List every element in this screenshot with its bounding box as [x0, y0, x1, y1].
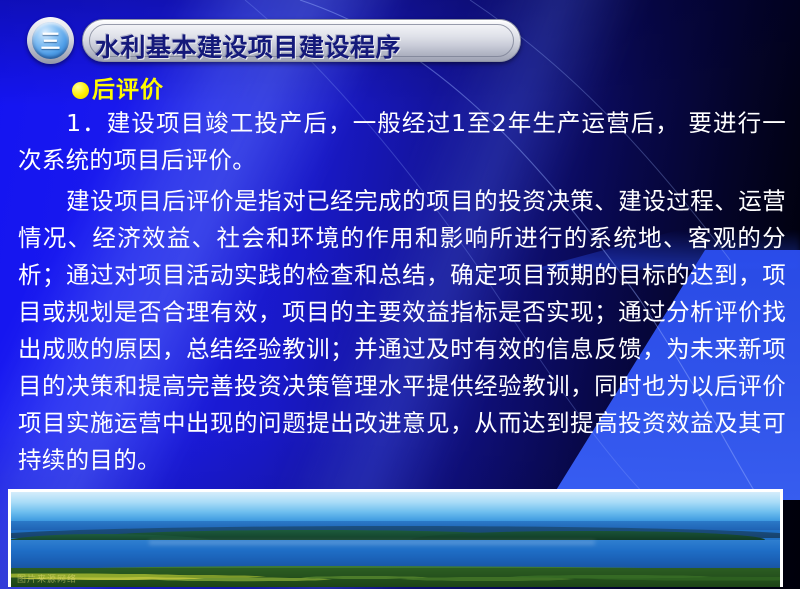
photo-water-glint	[149, 541, 595, 546]
photo-watermark: 图片来源网络	[17, 572, 77, 585]
section-number-badge: 三	[27, 17, 74, 64]
yellow-dot-bullet-icon	[72, 82, 89, 99]
section-heading-label: 后评价	[92, 78, 164, 103]
photo-sky	[11, 492, 780, 521]
section-heading: 后评价	[72, 78, 800, 103]
photo-foreground-foliage	[11, 568, 780, 587]
landscape-photo: 图片来源网络	[11, 492, 780, 587]
page-title: 水利基本建设项目建设程序	[95, 28, 401, 64]
body-paragraph-2: 建设项目后评价是指对已经完成的项目的投资决策、建设过程、运营情况、经济效益、社会…	[18, 183, 786, 479]
body-paragraph-1: 1．建设项目竣工投产后，一般经过1至2年生产运营后， 要进行一次系统的项目后评价…	[18, 105, 786, 179]
three-strokes-icon: 三	[41, 31, 61, 51]
photo-frame: 图片来源网络	[8, 489, 783, 587]
presentation-slide: 三 水利基本建设项目建设程序 后评价 1．建设项目竣工投产后，一般经过1至2年生…	[0, 0, 800, 589]
section-number-badge-core: 三	[32, 22, 69, 59]
slide-title-bar: 三 水利基本建设项目建设程序	[27, 17, 521, 64]
slide-content: 后评价 1．建设项目竣工投产后，一般经过1至2年生产运营后， 要进行一次系统的项…	[0, 78, 800, 479]
